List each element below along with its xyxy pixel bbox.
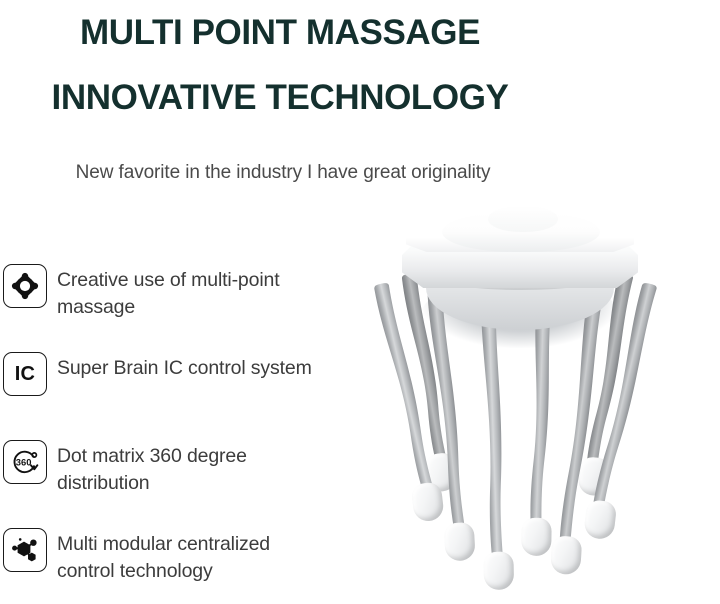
feature-label-360-distribution: Dot matrix 360 degree distribution [57, 438, 329, 497]
product-image-octopus-massager [330, 206, 720, 604]
headline-line-2: INNOVATIVE TECHNOLOGY [0, 67, 560, 129]
ic-badge-label: IC [15, 364, 35, 384]
feature-item-modular-control: Multi modular centralized control techno… [3, 526, 333, 598]
feature-label-modular-control: Multi modular centralized control techno… [57, 526, 329, 585]
massager-leg-tip [444, 522, 476, 562]
product-feature-banner: MULTI POINT MASSAGE INNOVATIVE TECHNOLOG… [0, 0, 720, 604]
massager-leg-tip [521, 518, 552, 557]
subtitle: New favorite in the industryIhave great … [0, 162, 566, 184]
multi-point-diamond-icon [3, 264, 47, 308]
subtitle-left: New favorite in the industry [76, 162, 302, 183]
feature-item-multi-point: Creative use of multi-point massage [3, 262, 333, 350]
product-stage [330, 206, 720, 604]
headline-line-1: MULTI POINT MASSAGE [0, 2, 560, 64]
massager-leg-tip [550, 535, 582, 575]
feature-label-ic-control: Super Brain IC control system [57, 350, 312, 382]
feature-item-360-distribution: 360 Dot matrix 360 degree distribution [3, 438, 333, 526]
massager-leg-tip [411, 481, 445, 522]
massager-leg-tip [583, 499, 617, 540]
feature-list: Creative use of multi-point massage IC S… [3, 262, 333, 598]
svg-text:360: 360 [16, 456, 32, 467]
ic-chip-icon: IC [3, 352, 47, 396]
feature-label-multi-point: Creative use of multi-point massage [57, 262, 329, 321]
feature-item-ic-control: IC Super Brain IC control system [3, 350, 333, 438]
headline-block: MULTI POINT MASSAGE INNOVATIVE TECHNOLOG… [0, 0, 560, 129]
360-degree-rotation-icon: 360 [3, 440, 47, 484]
massager-cap-top [488, 206, 558, 232]
molecule-network-icon [3, 528, 47, 572]
subtitle-right: have great originality [317, 162, 490, 183]
massager-leg-tip [483, 552, 514, 591]
subtitle-separator: I [302, 162, 317, 184]
